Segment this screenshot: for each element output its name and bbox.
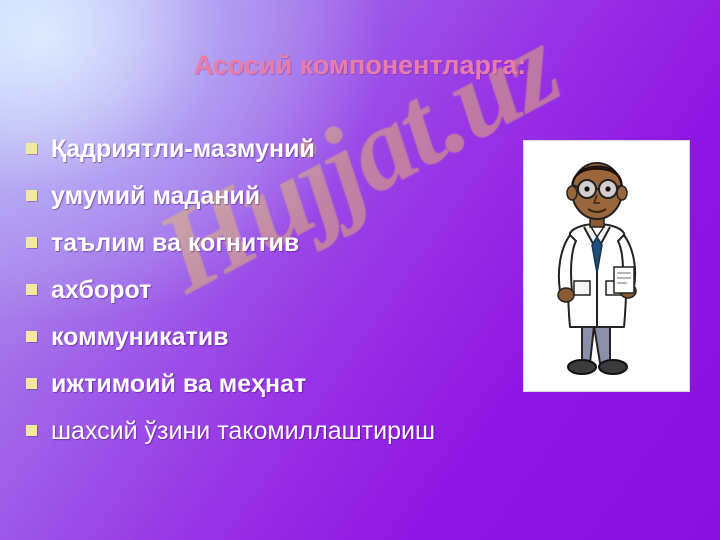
bullet-marker-icon <box>26 284 37 295</box>
bullet-marker-icon <box>26 331 37 342</box>
bullet-marker-icon <box>26 425 37 436</box>
bullet-marker-icon <box>26 378 37 389</box>
list-item: шахсий ўзини такомиллаштириш <box>26 413 636 451</box>
doctor-illustration <box>523 140 690 392</box>
slide-title: Асосий компонентларга: <box>0 50 720 81</box>
bullet-marker-icon <box>26 237 37 248</box>
list-item-label: шахсий ўзини такомиллаштириш <box>51 413 435 449</box>
list-item-label: коммуникатив <box>51 319 229 355</box>
list-item-label: ижтимоий ва меҳнат <box>51 366 306 402</box>
slide: Hujjat.uz Асосий компонентларга: Қадрият… <box>0 0 720 540</box>
bullet-marker-icon <box>26 190 37 201</box>
bullet-marker-icon <box>26 143 37 154</box>
list-item-label: таълим ва когнитив <box>51 225 299 261</box>
list-item-label: умумий маданий <box>51 178 260 214</box>
list-item-label: Қадриятли-мазмуний <box>51 131 315 167</box>
list-item-label: ахборот <box>51 272 151 308</box>
